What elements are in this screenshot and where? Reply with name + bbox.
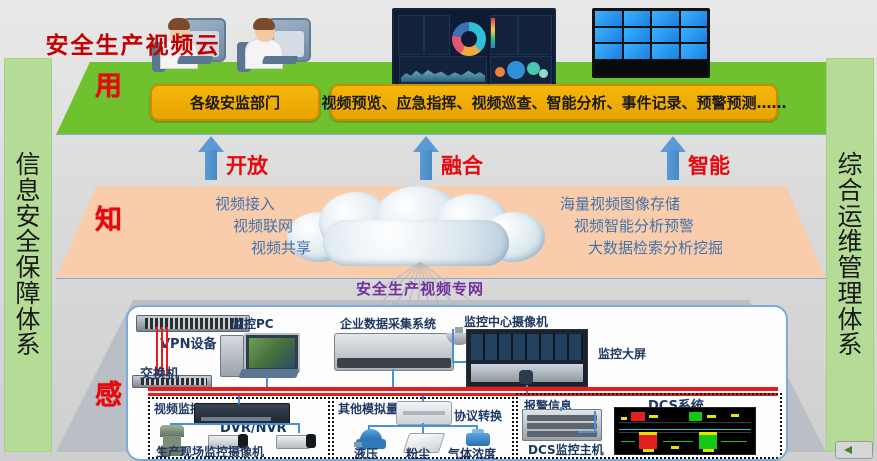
arrow-fusion-icon [413, 136, 439, 180]
arrow-intelligent-icon [660, 136, 686, 180]
cloud-left-item: 视频共享 [130, 238, 311, 260]
arrow-label-open: 开放 [226, 150, 268, 180]
control-room-photo [466, 329, 588, 387]
donut-chart [452, 22, 486, 56]
device-label-monitor-pc: 监控PC [232, 315, 274, 332]
right-sidebar-char: 综 [837, 152, 862, 178]
cloud-right-item: 海量视频图像存储 [560, 194, 780, 216]
device-label-protocol-conv: 协议转换 [454, 407, 502, 424]
video-wall-icon [592, 8, 710, 78]
keyboard-icon [262, 56, 299, 64]
bullet-camera-icon [276, 433, 316, 449]
arrow-label-fusion: 融合 [441, 150, 483, 180]
corner-tab[interactable] [835, 441, 873, 459]
pc-keyboard-icon [238, 369, 299, 378]
data-acquisition-server-icon [334, 333, 454, 371]
dcs-screenshot [614, 407, 756, 455]
device-label-dust: 粉尘 [406, 445, 430, 461]
left-sidebar-info-security: 信 息 安 全 保 障 体 系 [4, 58, 52, 452]
cloud-icon [283, 186, 549, 268]
private-network-label: 安全生产视频专网 [300, 278, 540, 299]
left-sidebar-char: 全 [15, 229, 40, 255]
diagram-canvas: 信 息 安 全 保 障 体 系 综 合 运 维 管 理 体 系 用 知 感 [0, 0, 877, 461]
right-sidebar-char: 维 [837, 229, 862, 255]
cloud-left-items: 视频接入 视频联网 视频共享 [130, 194, 275, 259]
left-sidebar-char: 系 [15, 332, 40, 358]
right-sidebar-char: 体 [837, 307, 862, 333]
pc-monitor-icon [244, 333, 300, 373]
left-sidebar-char: 息 [15, 178, 40, 204]
right-sidebar-char: 运 [837, 204, 862, 230]
left-sidebar-char: 体 [15, 307, 40, 333]
right-sidebar-ops-management: 综 合 运 维 管 理 体 系 [826, 58, 874, 452]
group-label-other-analog: 其他模拟量 [338, 400, 398, 417]
arrow-label-intelligent: 智能 [688, 150, 730, 180]
device-label-dcs-host: DCS监控主机 [528, 441, 604, 458]
cloud-right-items: 海量视频图像存储 视频智能分析预警 大数据检索分析挖掘 [560, 194, 780, 259]
cloud-right-item: 视频智能分析预警 [574, 216, 780, 238]
left-sidebar-char: 障 [15, 281, 40, 307]
device-label-center-camera: 监控中心摄像机 [464, 313, 548, 330]
dept-box[interactable]: 各级安监部门 [150, 84, 320, 121]
protocol-converter-icon [396, 401, 452, 425]
arrow-open-icon [198, 136, 224, 180]
area-chart [399, 56, 487, 84]
right-sidebar-char: 理 [837, 281, 862, 307]
device-panel: VPN设备 交换机 监控PC 企业数据采集系统 监控中心摄像机 [126, 305, 788, 461]
play-triangle-icon [844, 446, 852, 454]
device-label-site-camera: 生产现场监控摄像机 [156, 443, 264, 460]
device-label-gas: 气体浓度 [448, 445, 496, 461]
layer-tag-know: 知 [95, 198, 122, 237]
cloud-right-item: 大数据检索分析挖掘 [588, 238, 780, 260]
device-label-switch: 交换机 [140, 363, 179, 382]
cloud-left-item: 视频联网 [130, 216, 293, 238]
function-box[interactable]: 视频预览、应急指挥、视频巡查、智能分析、事件记录、预警预测…… [330, 84, 778, 121]
left-sidebar-char: 信 [15, 152, 40, 178]
right-sidebar-char: 系 [837, 332, 862, 358]
layer-tag-use: 用 [95, 64, 122, 103]
right-sidebar-char: 管 [837, 255, 862, 281]
layer-tag-sense: 感 [95, 373, 122, 412]
dcs-host-icon [522, 409, 602, 441]
cloud-title: 安全生产视频云 [0, 26, 266, 60]
device-label-vpn: VPN设备 [160, 333, 216, 352]
bubble-chart [490, 56, 552, 84]
cloud-left-item: 视频接入 [130, 194, 275, 216]
device-label-data-acq: 企业数据采集系统 [340, 315, 436, 332]
right-sidebar-char: 合 [837, 178, 862, 204]
left-sidebar-char: 保 [15, 255, 40, 281]
left-sidebar-char: 安 [15, 204, 40, 230]
dashboard-screenshot [392, 8, 556, 88]
device-label-hydraulic: 液压 [354, 445, 378, 461]
device-label-big-screen: 监控大屏 [598, 345, 646, 362]
